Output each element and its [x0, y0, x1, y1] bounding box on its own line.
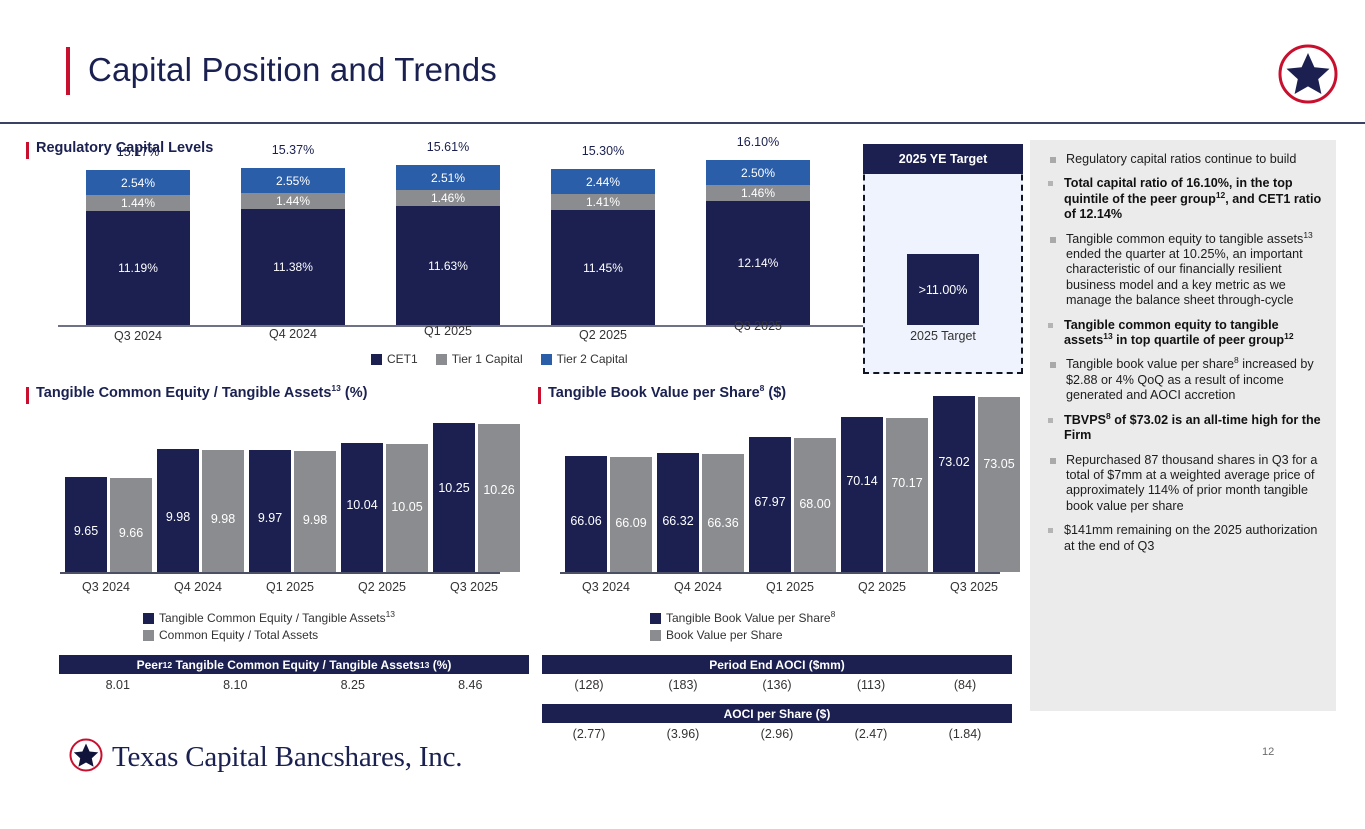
chart2-group: 9.98 9.98 — [157, 420, 244, 572]
bar-common-equity: 9.98 — [294, 451, 336, 572]
legend-item-bvps: Book Value per Share — [650, 628, 835, 642]
table-cell: (1.84) — [918, 727, 1012, 741]
bar-common-equity: 9.98 — [202, 450, 244, 572]
bar-book-value: 66.09 — [610, 457, 652, 572]
bar-total-label: 15.17% — [68, 145, 208, 159]
bar-total-label: 15.61% — [378, 140, 518, 154]
commentary-sub-list: TBVPS8 of $73.02 is an all-time high for… — [1040, 413, 1322, 444]
section-accent — [26, 142, 29, 159]
bar-tangible-book-value: 66.06 — [565, 456, 607, 572]
bullet-item: Tangible common equity to tangible asset… — [1040, 232, 1322, 309]
table-peer-tce: Peer12 Tangible Common Equity / Tangible… — [59, 655, 529, 696]
legend-label: Common Equity / Total Assets — [159, 628, 318, 642]
table-cell: (128) — [542, 678, 636, 692]
table-cell: (2.47) — [824, 727, 918, 741]
table-cell: (113) — [824, 678, 918, 692]
bar-total-label: 15.30% — [533, 144, 673, 158]
bullet-item: Tangible book value per share8 increased… — [1040, 357, 1322, 403]
commentary-sub-list: $141mm remaining on the 2025 authorizati… — [1040, 523, 1322, 554]
bullet-item: $141mm remaining on the 2025 authorizati… — [1040, 523, 1322, 554]
chart1-group: 16.10% 2.50% 1.46% 12.14% Q3 2025 — [706, 160, 810, 325]
segment-cet1: 11.19% — [86, 211, 190, 325]
chart-regulatory-capital-levels: 15.17% 2.54% 1.44% 11.19% Q3 2024 15.37%… — [26, 170, 1026, 375]
chart1-group: 15.61% 2.51% 1.46% 11.63% Q1 2025 — [396, 165, 500, 325]
x-axis-label: Q3 2025 — [413, 580, 535, 594]
chart1-x-axis — [58, 325, 998, 327]
commentary-sub-list: Total capital ratio of 16.10%, in the to… — [1040, 176, 1322, 222]
bullet-item: TBVPS8 of $73.02 is an all-time high for… — [1040, 413, 1322, 444]
chart3-group: 73.02 73.05 — [933, 420, 1020, 572]
legend-swatch-icon — [541, 354, 552, 365]
chart3-group: 66.06 66.09 — [565, 420, 652, 572]
bar-book-value: 66.36 — [702, 454, 744, 572]
legend-label: Book Value per Share — [666, 628, 783, 642]
bar-book-value: 70.17 — [886, 418, 928, 572]
table-row: (128) (183) (136) (113) (84) — [542, 674, 1012, 696]
company-wordmark: Texas Capital Bancshares, Inc. — [112, 741, 462, 774]
legend-swatch-icon — [371, 354, 382, 365]
section-title: Tangible Book Value per Share8 ($) — [548, 385, 786, 401]
legend-label: Tangible Common Equity / Tangible Assets… — [159, 611, 395, 625]
chart-tangible-book-value: 66.06 66.09 Q3 2024 66.32 66.36 Q4 2024 … — [560, 420, 1020, 575]
segment-tier2: 2.50% — [706, 160, 810, 185]
bar-tangible-common-equity: 9.97 — [249, 450, 291, 572]
star-in-circle-icon — [1277, 43, 1339, 105]
chart2-group: 10.04 10.05 — [341, 420, 428, 572]
commentary-bullet-list: Regulatory capital ratios continue to bu… — [1040, 152, 1322, 554]
section-title: Tangible Common Equity / Tangible Assets… — [36, 385, 367, 401]
segment-cet1: 12.14% — [706, 201, 810, 325]
chart1-group: 15.30% 2.44% 1.41% 11.45% Q2 2025 — [551, 169, 655, 325]
legend-item-tbvps: Tangible Book Value per Share8 — [650, 611, 835, 625]
title-accent-bar — [66, 47, 70, 95]
segment-tier2: 2.54% — [86, 170, 190, 195]
chart1-group: 15.37% 2.55% 1.44% 11.38% Q4 2024 — [241, 168, 345, 325]
x-axis-label: Q3 2024 — [68, 329, 208, 343]
table-cell: (136) — [730, 678, 824, 692]
chart2-x-axis — [60, 572, 500, 574]
chart1-group: 15.17% 2.54% 1.44% 11.19% Q3 2024 — [86, 170, 190, 325]
chart3-group: 67.97 68.00 — [749, 420, 836, 572]
chart3-x-axis — [560, 572, 1000, 574]
bar-book-value: 68.00 — [794, 438, 836, 572]
bullet-item: Total capital ratio of 16.10%, in the to… — [1040, 176, 1322, 222]
segment-tier1: 1.41% — [551, 194, 655, 210]
x-axis-label: Q4 2024 — [223, 327, 363, 341]
table-cell: (2.77) — [542, 727, 636, 741]
bar-common-equity: 10.26 — [478, 424, 520, 572]
segment-cet1: 11.38% — [241, 209, 345, 325]
legend-swatch-icon — [650, 613, 661, 624]
chart2-group: 10.25 10.26 — [433, 420, 520, 572]
slide-header: Capital Position and Trends — [0, 0, 1365, 123]
legend-label: Tangible Book Value per Share8 — [666, 611, 835, 625]
bar-common-equity: 10.05 — [386, 444, 428, 572]
x-axis-label: Q3 2025 — [688, 319, 828, 333]
legend-label: Tier 2 Capital — [557, 352, 628, 366]
legend-swatch-icon — [143, 613, 154, 624]
table-period-end-aoci: Period End AOCI ($mm) (128) (183) (136) … — [542, 655, 1012, 696]
bar-total-label: 16.10% — [688, 135, 828, 149]
segment-cet1: 11.45% — [551, 210, 655, 325]
table-cell: (84) — [918, 678, 1012, 692]
x-axis-label: Q1 2025 — [378, 324, 518, 338]
segment-tier1: 1.44% — [241, 193, 345, 209]
bullet-item: Repurchased 87 thousand shares in Q3 for… — [1040, 453, 1322, 515]
table-cell: 8.01 — [59, 678, 177, 692]
bar-tangible-common-equity: 9.98 — [157, 449, 199, 572]
table-row: 8.01 8.10 8.25 8.46 — [59, 674, 529, 696]
target-x-label: 2025 Target — [863, 329, 1023, 343]
chart3-legend: Tangible Book Value per Share8 Book Valu… — [650, 611, 835, 642]
table-cell: (183) — [636, 678, 730, 692]
legend-swatch-icon — [650, 630, 661, 641]
table-cell: 8.10 — [177, 678, 295, 692]
x-axis-label: Q3 2025 — [913, 580, 1035, 594]
chart2-legend: Tangible Common Equity / Tangible Assets… — [143, 611, 395, 642]
chart-tangible-common-equity: 9.65 9.66 Q3 2024 9.98 9.98 Q4 2024 9.97… — [60, 420, 525, 575]
legend-item-cet1: CET1 — [371, 352, 418, 366]
header-divider — [0, 122, 1365, 124]
segment-tier1: 1.46% — [396, 190, 500, 206]
legend-item-common-equity: Common Equity / Total Assets — [143, 628, 395, 642]
bar-book-value: 73.05 — [978, 397, 1020, 572]
target-bar: >11.00% — [907, 254, 979, 325]
segment-tier2: 2.51% — [396, 165, 500, 190]
segment-tier2: 2.55% — [241, 168, 345, 193]
table-header: Peer12 Tangible Common Equity / Tangible… — [59, 655, 529, 674]
segment-tier1: 1.46% — [706, 185, 810, 201]
bullet-item: Regulatory capital ratios continue to bu… — [1040, 152, 1322, 167]
footer-logo: Texas Capital Bancshares, Inc. — [68, 737, 462, 778]
legend-label: CET1 — [387, 352, 418, 366]
commentary-sidebar: Regulatory capital ratios continue to bu… — [1030, 140, 1336, 711]
page-number: 12 — [1262, 746, 1274, 758]
section-accent — [26, 387, 29, 404]
chart1-legend: CET1 Tier 1 Capital Tier 2 Capital — [371, 352, 628, 366]
bar-tangible-book-value: 73.02 — [933, 396, 975, 572]
table-cell: (2.96) — [730, 727, 824, 741]
bar-tangible-book-value: 66.32 — [657, 453, 699, 572]
chart3-group: 66.32 66.36 — [657, 420, 744, 572]
star-in-circle-icon — [68, 737, 104, 778]
chart2-group: 9.97 9.98 — [249, 420, 336, 572]
segment-tier2: 2.44% — [551, 169, 655, 194]
segment-cet1: 11.63% — [396, 206, 500, 325]
table-cell: 8.25 — [294, 678, 412, 692]
table-header: AOCI per Share ($) — [542, 704, 1012, 723]
slide: Capital Position and Trends Regulatory C… — [0, 0, 1365, 829]
chart2-group: 9.65 9.66 — [65, 420, 152, 572]
legend-item-tier1: Tier 1 Capital — [436, 352, 523, 366]
bar-tangible-common-equity: 9.65 — [65, 477, 107, 572]
segment-tier1: 1.44% — [86, 195, 190, 211]
section-accent — [538, 387, 541, 404]
chart3-group: 70.14 70.17 — [841, 420, 928, 572]
bar-common-equity: 9.66 — [110, 478, 152, 572]
bar-tangible-common-equity: 10.25 — [433, 423, 475, 572]
x-axis-label: Q2 2025 — [533, 328, 673, 342]
target-caption: 2025 YE Target — [863, 144, 1023, 174]
bar-tangible-common-equity: 10.04 — [341, 443, 383, 572]
page-title: Capital Position and Trends — [88, 51, 497, 89]
legend-swatch-icon — [143, 630, 154, 641]
table-header: Period End AOCI ($mm) — [542, 655, 1012, 674]
legend-item-tier2: Tier 2 Capital — [541, 352, 628, 366]
commentary-sub-list: Tangible common equity to tangible asset… — [1040, 318, 1322, 349]
bar-tangible-book-value: 70.14 — [841, 417, 883, 572]
table-cell: (3.96) — [636, 727, 730, 741]
bar-tangible-book-value: 67.97 — [749, 437, 791, 572]
table-row: (2.77) (3.96) (2.96) (2.47) (1.84) — [542, 723, 1012, 745]
table-aoci-per-share: AOCI per Share ($) (2.77) (3.96) (2.96) … — [542, 704, 1012, 745]
bar-total-label: 15.37% — [223, 143, 363, 157]
legend-item-tce: Tangible Common Equity / Tangible Assets… — [143, 611, 395, 625]
legend-label: Tier 1 Capital — [452, 352, 523, 366]
table-cell: 8.46 — [412, 678, 530, 692]
bullet-item: Tangible common equity to tangible asset… — [1040, 318, 1322, 349]
legend-swatch-icon — [436, 354, 447, 365]
